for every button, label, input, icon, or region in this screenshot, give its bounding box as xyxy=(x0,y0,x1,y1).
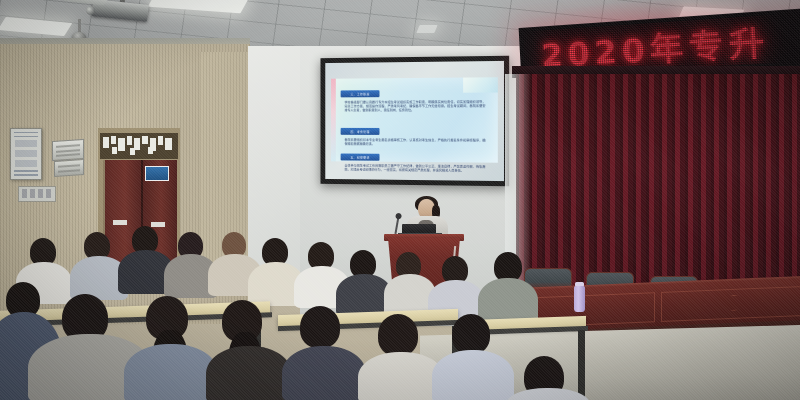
audience-shoulders-front xyxy=(282,346,366,400)
water-bottle xyxy=(574,286,585,312)
audience-shoulders-front xyxy=(206,346,292,400)
wall-notice xyxy=(18,186,56,202)
slide-section-heading: 四、考务管理 xyxy=(341,128,380,135)
lecture-hall-photo: 三、工作职责 学校各级部门要认真履行专升本招生考试组织实施工作职责，明确落实岗位… xyxy=(0,0,800,400)
door-sign xyxy=(145,166,169,181)
door-push-plate[interactable] xyxy=(113,220,127,225)
audience-head-front xyxy=(378,314,418,356)
audience-head-front xyxy=(300,306,340,348)
slide-section-body: 全体参与招生考试工作的教职员工要严守工作纪律，做到公平公正、廉洁自律，严禁弄虚作… xyxy=(344,163,485,181)
wall-control-panel-lower[interactable] xyxy=(54,159,84,177)
presentation-slide: 三、工作职责 学校各级部门要认真履行专升本招生考试组织实施工作职责，明确落实岗位… xyxy=(331,77,498,162)
door-transom-window xyxy=(100,133,178,159)
audience-shoulders-front xyxy=(124,344,218,400)
audience-head-front xyxy=(452,314,490,354)
wall-poster xyxy=(10,128,42,180)
slide-section-heading: 三、工作职责 xyxy=(341,90,380,97)
ceiling-light xyxy=(416,25,437,33)
projection-screen: 三、工作职责 学校各级部门要认真履行专升本招生考试组织实施工作职责，明确落实岗位… xyxy=(325,61,504,181)
wall-control-panel[interactable] xyxy=(52,139,84,161)
projector-lens-icon xyxy=(86,6,95,15)
slide-left-accent xyxy=(331,79,336,162)
slide-corner-accent xyxy=(463,77,498,92)
door-push-plate[interactable] xyxy=(151,222,165,227)
slide-section-body: 各院系要组织好本专业考生报名资格审核工作，认真核对考生信息，严格执行报名条件和审… xyxy=(344,138,485,153)
slide-section-body: 学校各级部门要认真履行专升本招生考试组织实施工作职责，明确落实岗位责任，切实加强… xyxy=(344,100,485,126)
desk-leg xyxy=(578,330,585,400)
audience-shoulders-front xyxy=(432,350,514,400)
slide-section-heading: 五、纪律要求 xyxy=(341,154,380,161)
projection-screen-frame: 三、工作职责 学校各级部门要认真履行专升本招生考试组织实施工作职责，明确落实岗位… xyxy=(320,56,509,187)
